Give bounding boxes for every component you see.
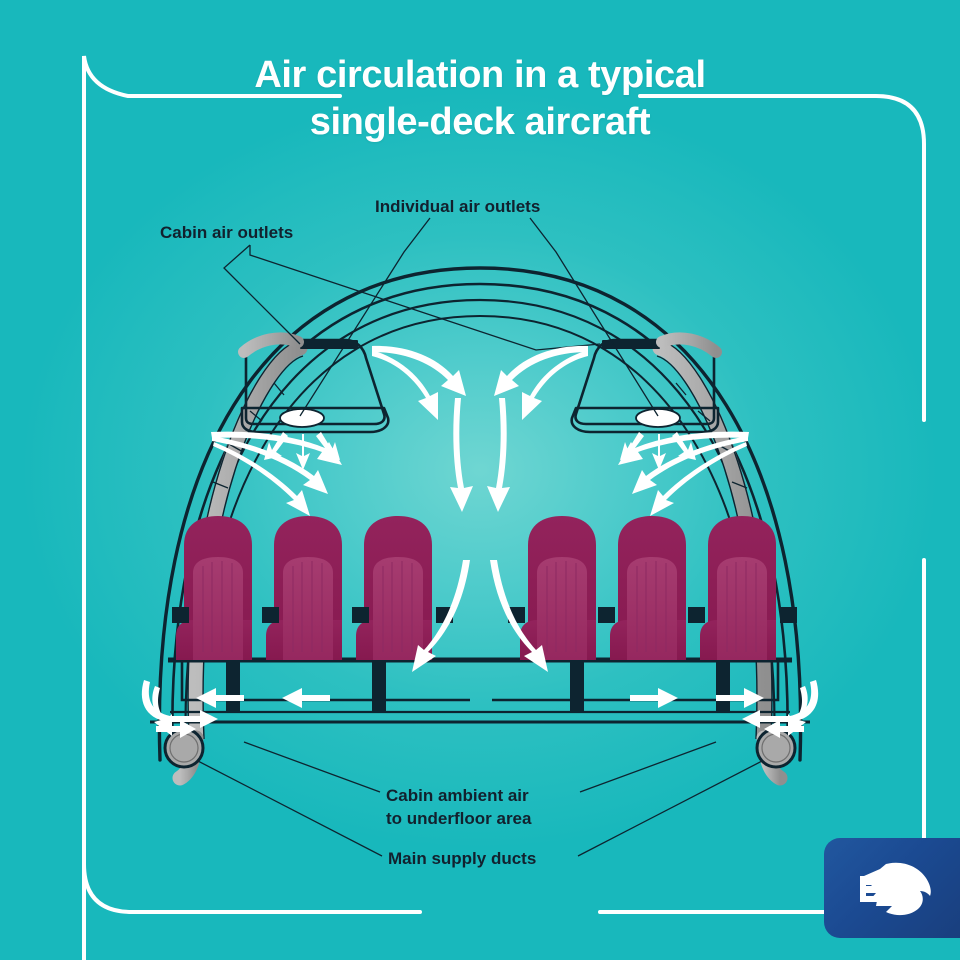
seat-bank-left <box>172 516 453 712</box>
armrest <box>780 607 797 623</box>
seat-leg <box>372 660 386 712</box>
brand-logo-badge[interactable] <box>824 838 960 938</box>
seat <box>172 516 252 660</box>
individual-air-outlet-right <box>636 409 680 427</box>
armrest <box>688 607 705 623</box>
armrest <box>352 607 369 623</box>
seat <box>598 516 686 660</box>
label-cabin-air-outlets: Cabin air outlets <box>160 221 293 244</box>
label-main-supply-ducts: Main supply ducts <box>388 847 536 870</box>
seat <box>262 516 342 660</box>
infographic-canvas: Air circulation in a typical single-deck… <box>0 0 960 960</box>
seat-bank-right <box>508 516 797 712</box>
armrest <box>262 607 279 623</box>
cabin-floor <box>150 660 810 722</box>
label-individual-air-outlets: Individual air outlets <box>375 195 540 218</box>
seat-leg <box>570 660 584 712</box>
cabin-air-outlet-left <box>300 340 358 349</box>
armrest <box>172 607 189 623</box>
cabin-air-outlet-right <box>602 340 660 349</box>
label-cabin-ambient-air: Cabin ambient air to underfloor area <box>386 784 531 830</box>
bird-logo-icon <box>852 860 934 918</box>
seat-leg <box>226 660 240 712</box>
armrest <box>598 607 615 623</box>
seat-leg <box>716 660 730 712</box>
